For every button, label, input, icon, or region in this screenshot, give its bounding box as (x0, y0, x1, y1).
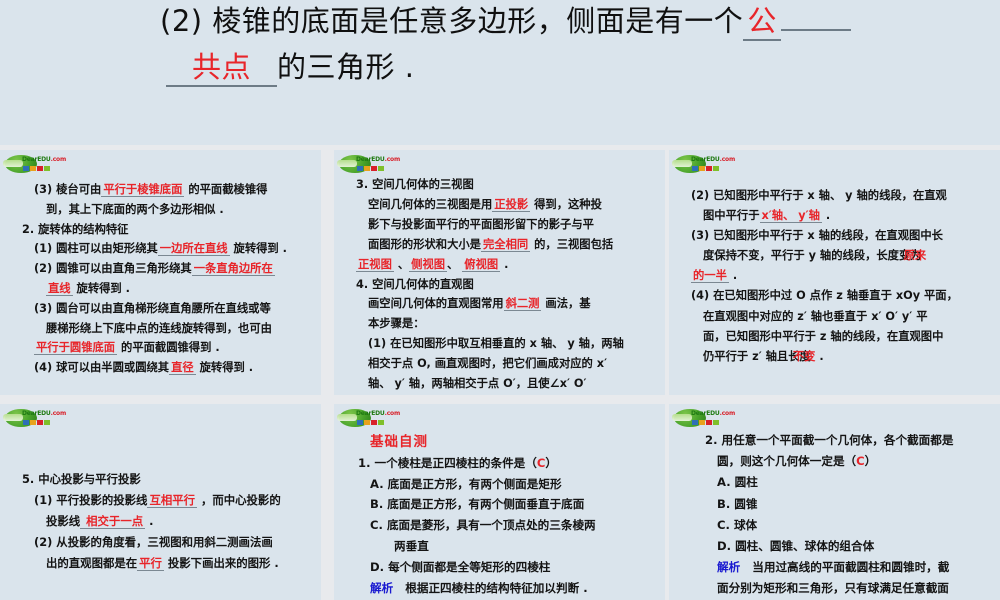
panel-1-line: 到，其上下底面的两个多边形相似 . (22, 200, 321, 220)
logo-brand-text: DearEDU.com (22, 156, 66, 163)
panel-3-line: 的一半 . (691, 266, 1000, 286)
logo-brand-text: DearEDU.com (22, 410, 66, 417)
text-run: 相交于点 O, 画直观图时，把它们画成对应的 x′ (368, 357, 607, 370)
explanation-text: 根据正四棱柱的结构特征加以判断 . (405, 581, 587, 595)
panel-3-line: (2) 已知图形中平行于 x 轴、 y 轴的线段，在直观 (691, 186, 1000, 206)
quiz-option-continued: 两垂直 (358, 536, 665, 557)
panel-2-line: 影下与投影面平行的平面图形留下的影子与平 (356, 215, 665, 235)
logo-color-chips (357, 166, 384, 171)
panel-2-line: 相交于点 O, 画直观图时，把它们画成对应的 x′ (356, 354, 665, 374)
text-run: (2) 从投影的角度看，三视图和用斜二测画法画 (34, 535, 273, 549)
logo-swoosh-icon (672, 160, 692, 167)
text-run: 3. 空间几何体的三视图 (356, 178, 474, 191)
quiz-question-2: 2. 用任意一个平面截一个几何体，各个截面都是 (693, 430, 1000, 451)
slide-panel-5[interactable]: DearEDU.com 基础自测 1. 一个棱柱是正四棱柱的条件是（C） A. … (334, 404, 665, 600)
fill-in-blank-answer: 互相平行 (147, 493, 197, 508)
quiz-explanation: 解析 根据正四棱柱的结构特征加以判断 . (358, 578, 665, 599)
fill-in-blank-answer: 正视图 (356, 258, 394, 272)
text-run: 在直观图中对应的 z′ 轴也垂直于 x′ O′ y′ 平 (703, 310, 928, 323)
panel-1-line: (3) 棱台可由平行于棱锥底面 的平面截棱锥得 (22, 180, 321, 200)
dearedu-logo: DearEDU.com (3, 409, 65, 429)
quiz-explanation-continued: 面分别为矩形和三角形，只有球满足任意截面 (693, 578, 1000, 599)
quiz-option[interactable]: A. 底面是正方形，有两个侧面是矩形 (358, 474, 665, 495)
panel-2-line: 轴、 y′ 轴，两轴相交于点 O′，且使∠x′ O′ (356, 374, 665, 394)
text-run: (3) 棱台可由 (34, 183, 101, 196)
page-title: (2) 棱锥的底面是任意多边形，侧面是有一个公 共点的三角形 . (160, 0, 990, 90)
panel-2-line: 本步骤是： (356, 314, 665, 334)
quiz-explanation: 解析 当用过高线的平面截圆柱和圆锥时，截 (693, 557, 1000, 578)
logo-color-chips (23, 420, 50, 425)
explanation-label: 解析 (717, 560, 740, 574)
fill-in-blank-answer: 不变 (793, 350, 816, 363)
logo-swoosh-icon (3, 414, 23, 421)
panel-4-line: (2) 从投影的角度看，三视图和用斜二测画法画 (22, 532, 321, 553)
panel-6-body: 2. 用任意一个平面截一个几何体，各个截面都是 圆，则这个几何体一定是（C） A… (693, 430, 1000, 600)
title-blank-2: 共点 (166, 50, 277, 87)
text-run: 图中平行于 (703, 209, 760, 222)
dearedu-logo: DearEDU.com (337, 409, 399, 429)
panel-3-line: 度保持不变，平行于 y 轴的线段，长度变为原来 (691, 246, 1000, 266)
dearedu-logo: DearEDU.com (3, 155, 65, 175)
panel-3-line: 仍平行于 z′ 轴且长度不变 . (691, 347, 1000, 367)
logo-swoosh-icon (3, 160, 23, 167)
fill-in-blank-answer: 正投影 (492, 198, 530, 212)
logo-color-chips (357, 420, 384, 425)
text-run: (2) 圆锥可以由直角三角形绕其 (34, 262, 192, 275)
panel-2-body: 3. 空间几何体的三视图空间几何体的三视图是用正投影 得到，这种投影下与投影面平… (356, 175, 665, 395)
text-run: (1) 在已知图形中取互相垂直的 x 轴、 y 轴，两轴 (368, 337, 624, 350)
logo-color-chips (692, 420, 719, 425)
text-run: 得到，这种投 (530, 198, 602, 211)
title-prefix: (2) 棱锥的底面是任意多边形，侧面是有一个 (160, 4, 743, 38)
text-run: (3) 已知图形中平行于 x 轴的线段，在直观图中长 (691, 229, 943, 242)
logo-swoosh-icon (672, 414, 692, 421)
text-run: 轴、 y′ 轴，两轴相交于点 O′，且使∠x′ O′ (368, 377, 587, 390)
text-run: . (145, 514, 153, 528)
panel-1-line: 直线 旋转得到 . (22, 279, 321, 299)
text-run: 4. 空间几何体的直观图 (356, 278, 474, 291)
text-run: . (500, 258, 508, 271)
logo-swoosh-icon (337, 414, 357, 421)
fill-in-blank-answer: 的一半 (691, 269, 729, 283)
panel-2-line: (1) 在已知图形中取互相垂直的 x 轴、 y 轴，两轴 (356, 334, 665, 354)
text-run: 到，其上下底面的两个多边形相似 . (46, 203, 224, 216)
fill-in-blank-answer: 相交于一点 (80, 514, 145, 529)
quiz-answer-2: C (856, 454, 865, 468)
logo-swoosh-icon (337, 160, 357, 167)
fill-in-blank-answer: 平行 (137, 556, 164, 571)
panel-4-line: 5. 中心投影与平行投影 (22, 469, 321, 490)
text-run: 腰梯形绕上下底中点的连线旋转得到，也可由 (46, 322, 272, 335)
logo-brand-text: DearEDU.com (691, 156, 735, 163)
logo-color-chips (23, 166, 50, 171)
panel-3-body: (2) 已知图形中平行于 x 轴、 y 轴的线段，在直观图中平行于x′轴、 y′… (691, 186, 1000, 367)
quiz-option[interactable]: B. 圆锥 (693, 494, 1000, 515)
dearedu-logo: DearEDU.com (337, 155, 399, 175)
panel-1-body: (3) 棱台可由平行于棱锥底面 的平面截棱锥得到，其上下底面的两个多边形相似 .… (22, 180, 321, 378)
text-run: 空间几何体的三视图是用 (368, 198, 492, 211)
panel-2-line: 4. 空间几何体的直观图 (356, 275, 665, 295)
panel-2-line: 正视图 、侧视图、 俯视图 . (356, 255, 665, 275)
slide-panel-6[interactable]: DearEDU.com 2. 用任意一个平面截一个几何体，各个截面都是 圆，则这… (669, 404, 1000, 600)
panel-4-line: 投影线 相交于一点 . (22, 511, 321, 532)
panel-4-line: (1) 平行投影的投影线互相平行 ，而中心投影的 (22, 490, 321, 511)
logo-brand-text: DearEDU.com (356, 156, 400, 163)
text-run: 面图形的形状和大小是 (368, 238, 481, 251)
slide-panel-1[interactable]: DearEDU.com (3) 棱台可由平行于棱锥底面 的平面截棱锥得到，其上下… (0, 150, 321, 395)
text-run: 度保持不变，平行于 y 轴的线段，长度变为 (703, 249, 922, 262)
panel-3-line: (4) 在已知图形中过 O 点作 z 轴垂直于 xOy 平面， (691, 286, 1000, 306)
text-run: 投影线 (46, 514, 80, 528)
panel-2-line: y′ =45° （或 135° ） (356, 394, 665, 395)
text-run: (1) 平行投影的投影线 (34, 493, 147, 507)
fill-in-blank-answer: 一边所在直线 (158, 242, 230, 256)
slide-panel-4[interactable]: DearEDU.com 5. 中心投影与平行投影(1) 平行投影的投影线互相平行… (0, 404, 321, 600)
text-run: 画法，基 (541, 297, 590, 310)
panel-1-line: 2. 旋转体的结构特征 (22, 220, 321, 240)
fill-in-blank-answer: 直径 (169, 361, 196, 375)
title-suffix: 的三角形 . (277, 50, 414, 84)
text-run: (2) 已知图形中平行于 x 轴、 y 轴的线段，在直观 (691, 189, 947, 202)
text-run: . (729, 269, 737, 282)
text-run: 旋转得到 . (230, 242, 287, 255)
quiz-option[interactable]: A. 圆柱 (693, 472, 1000, 493)
panel-1-line: 平行于圆锥底面 的平面截圆锥得到 . (22, 338, 321, 358)
text-run: 的平面截圆锥得到 . (117, 341, 220, 354)
explanation-text: 当用过高线的平面截圆柱和圆锥时，截 (752, 560, 949, 574)
text-run: 2. 旋转体的结构特征 (22, 223, 128, 236)
panel-4-body: 5. 中心投影与平行投影(1) 平行投影的投影线互相平行 ，而中心投影的投影线 … (22, 469, 321, 574)
fill-in-blank-answer: 俯视图 (462, 258, 500, 272)
quiz-option[interactable]: D. 圆柱、圆锥、球体的组合体 (693, 536, 1000, 557)
panel-3-line: 面，已知图形中平行于 z 轴的线段，在直观图中 (691, 327, 1000, 347)
quiz-section-heading: 基础自测 (358, 432, 665, 453)
text-run: 投影下画出来的图形 . (164, 556, 279, 570)
panel-3-line: 图中平行于x′轴、 y′轴 . (691, 206, 1000, 226)
quiz-option[interactable]: B. 底面是正方形，有两个侧面垂直于底面 (358, 494, 665, 515)
fill-in-blank-answer: 斜二测 (504, 297, 542, 311)
panel-1-line: (3) 圆台可以由直角梯形绕直角腰所在直线或等 (22, 299, 321, 319)
panel-1-line: (1) 圆柱可以由矩形绕其一边所在直线 旋转得到 . (22, 239, 321, 259)
text-run: 本步骤是： (368, 317, 425, 330)
text-run: 出的直观图都是在 (46, 556, 137, 570)
text-run: . (822, 209, 830, 222)
text-run: (4) 球可以由半圆或圆绕其 (34, 361, 169, 374)
text-run: (1) 圆柱可以由矩形绕其 (34, 242, 158, 255)
panel-3-line: (3) 已知图形中平行于 x 轴的线段，在直观图中长 (691, 226, 1000, 246)
fill-in-blank-answer: 一条直角边所在 (192, 262, 275, 276)
panel-3-line: 在直观图中对应的 z′ 轴也垂直于 x′ O′ y′ 平 (691, 307, 1000, 327)
quiz-question-2-continued: 圆，则这个几何体一定是（C） (693, 451, 1000, 472)
fill-in-blank-answer: 侧视图 (409, 258, 447, 272)
text-run: (4) 在已知图形中过 O 点作 z 轴垂直于 xOy 平面， (691, 289, 958, 302)
panel-1-line: 腰梯形绕上下底中点的连线旋转得到，也可由 (22, 319, 321, 339)
title-band: (2) 棱锥的底面是任意多边形，侧面是有一个公 共点的三角形 . (0, 0, 1000, 145)
text-run: 旋转得到 . (196, 361, 253, 374)
fill-in-blank-answer: 平行于圆锥底面 (34, 341, 117, 355)
explanation-label: 解析 (370, 581, 393, 595)
fill-in-blank-answer: 原来 (904, 249, 927, 262)
text-run: 、 (394, 258, 409, 271)
logo-color-chips (692, 166, 719, 171)
slide-panel-2[interactable]: DearEDU.com 3. 空间几何体的三视图空间几何体的三视图是用正投影 得… (334, 150, 665, 395)
panel-2-line: 面图形的形状和大小是完全相同 的，三视图包括 (356, 235, 665, 255)
fill-in-blank-answer: x′轴、 y′轴 (760, 209, 822, 223)
panel-4-line: 出的直观图都是在平行 投影下画出来的图形 . (22, 553, 321, 574)
quiz-option[interactable]: C. 球体 (693, 515, 1000, 536)
logo-brand-text: DearEDU.com (691, 410, 735, 417)
panel-2-line: 空间几何体的三视图是用正投影 得到，这种投 (356, 195, 665, 215)
dearedu-logo: DearEDU.com (672, 155, 734, 175)
text-run: 旋转得到 . (73, 282, 130, 295)
panel-1-line: (4) 球可以由半圆或圆绕其直径 旋转得到 . (22, 358, 321, 378)
text-run: 的平面截棱锥得 (184, 183, 267, 196)
text-run: 面，已知图形中平行于 z 轴的线段，在直观图中 (703, 330, 943, 343)
fill-in-blank-answer: 完全相同 (481, 238, 530, 252)
fill-in-blank-answer: 平行于棱锥底面 (101, 183, 184, 197)
fill-in-blank-answer: 直线 (46, 282, 73, 296)
panel-2-line: 画空间几何体的直观图常用斜二测 画法，基 (356, 294, 665, 314)
panel-2-line: 3. 空间几何体的三视图 (356, 175, 665, 195)
dearedu-logo: DearEDU.com (672, 409, 734, 429)
logo-brand-text: DearEDU.com (356, 410, 400, 417)
panel-5-body: 基础自测 1. 一个棱柱是正四棱柱的条件是（C） A. 底面是正方形，有两个侧面… (358, 432, 665, 598)
text-run: 的，三视图包括 (530, 238, 613, 251)
text-run: 影下与投影面平行的平面图形留下的影子与平 (368, 218, 594, 231)
text-run: . (815, 350, 823, 363)
text-run: 、 (447, 258, 462, 271)
text-run: 5. 中心投影与平行投影 (22, 472, 141, 486)
text-run: 画空间几何体的直观图常用 (368, 297, 504, 310)
quiz-option[interactable]: D. 每个侧面都是全等矩形的四棱柱 (358, 557, 665, 578)
quiz-question-1: 1. 一个棱柱是正四棱柱的条件是（C） (358, 453, 665, 474)
quiz-option[interactable]: C. 底面是菱形，具有一个顶点处的三条棱两 (358, 515, 665, 536)
slide-panel-3[interactable]: DearEDU.com (2) 已知图形中平行于 x 轴、 y 轴的线段，在直观… (669, 150, 1000, 395)
title-blank-1: 公 (743, 4, 781, 41)
text-run: (3) 圆台可以由直角梯形绕直角腰所在直线或等 (34, 302, 271, 315)
panel-1-line: (2) 圆锥可以由直角三角形绕其一条直角边所在 (22, 259, 321, 279)
text-run: ，而中心投影的 (197, 493, 281, 507)
